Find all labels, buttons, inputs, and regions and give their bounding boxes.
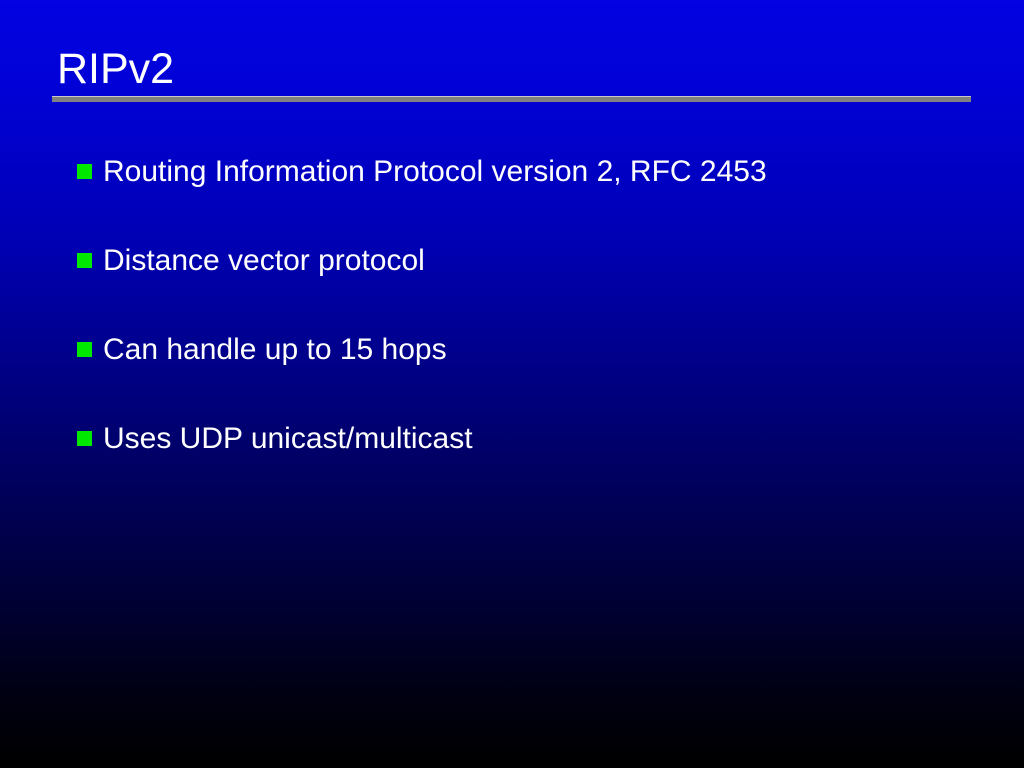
green-square-bullet-icon bbox=[77, 342, 92, 357]
list-item: Routing Information Protocol version 2, … bbox=[77, 155, 1007, 244]
list-item: Distance vector protocol bbox=[77, 244, 1007, 333]
green-square-bullet-icon bbox=[77, 431, 92, 446]
title-underline-rule bbox=[52, 96, 971, 102]
list-item: Can handle up to 15 hops bbox=[77, 333, 1007, 422]
bullet-list: Routing Information Protocol version 2, … bbox=[77, 155, 1007, 511]
list-item-label: Distance vector protocol bbox=[103, 244, 425, 278]
list-item: Uses UDP unicast/multicast bbox=[77, 422, 1007, 511]
green-square-bullet-icon bbox=[77, 253, 92, 268]
list-item-label: Routing Information Protocol version 2, … bbox=[103, 155, 767, 189]
page-title: RIPv2 bbox=[52, 44, 972, 94]
list-item-label: Can handle up to 15 hops bbox=[103, 333, 447, 367]
presentation-slide: RIPv2 Routing Information Protocol versi… bbox=[0, 0, 1024, 768]
green-square-bullet-icon bbox=[77, 164, 92, 179]
list-item-label: Uses UDP unicast/multicast bbox=[103, 422, 473, 456]
title-block: RIPv2 bbox=[52, 44, 972, 94]
